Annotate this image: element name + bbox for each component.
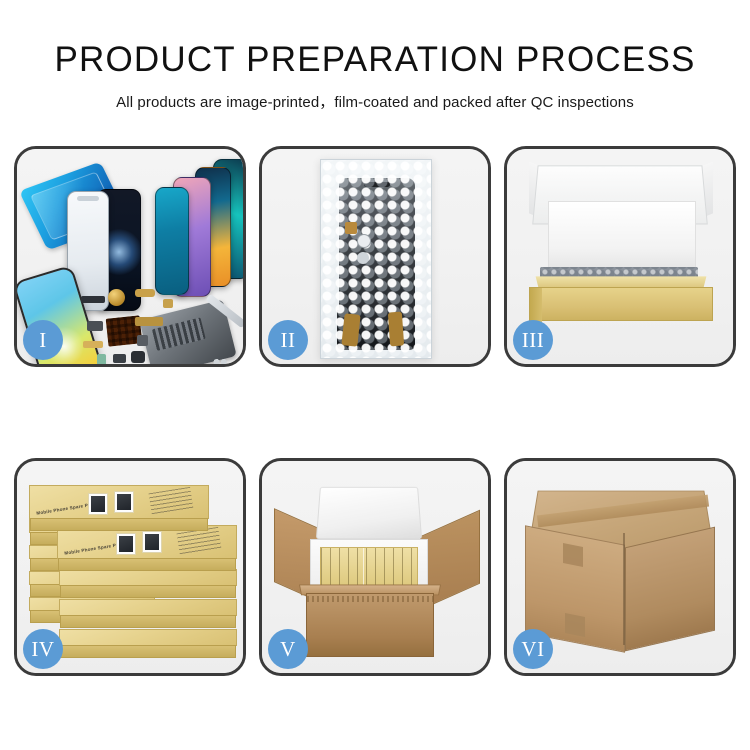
product-preparation-process-page: PRODUCT PREPARATION PROCESS All products… [0, 0, 750, 750]
gold-component [108, 289, 125, 306]
box-rim [536, 276, 707, 287]
part-gold-ribbon [135, 317, 163, 326]
flex-tail-left [341, 313, 360, 346]
box-side-face [60, 585, 236, 598]
step-panel-5: V [259, 458, 491, 676]
box-top-face [60, 600, 236, 615]
part-small-block [137, 335, 148, 346]
screws [213, 357, 231, 367]
screen-notch [364, 182, 390, 187]
box-window-2b [142, 531, 162, 553]
sensor-hole [357, 252, 369, 264]
step-panel-3: III [504, 146, 736, 367]
step-panel-6: VI [504, 458, 736, 676]
box-top-face [60, 630, 236, 645]
step-badge-2: II [268, 320, 308, 360]
box-side-face [58, 558, 236, 571]
process-steps-grid: I II [14, 146, 736, 676]
page-header: PRODUCT PREPARATION PROCESS All products… [0, 0, 750, 112]
box-side-face [60, 645, 236, 658]
box-window-1b [114, 491, 134, 513]
stack-box-fr-3 [59, 569, 237, 586]
part-module [87, 321, 103, 331]
page-subtitle: All products are image-printed，film-coat… [0, 91, 750, 112]
carton-right-face [625, 527, 715, 652]
step-badge-1: I [23, 320, 63, 360]
part-ic-chip [113, 354, 126, 363]
yellow-mailer-box-front [529, 287, 713, 321]
box-side-face [30, 518, 208, 531]
part-speaker [131, 351, 145, 363]
part-camera-lens [97, 354, 106, 367]
page-title: PRODUCT PREPARATION PROCESS [0, 40, 750, 80]
part-flex-strip [83, 341, 103, 348]
carton-front-wall [306, 593, 434, 657]
step-panel-2: II [259, 146, 491, 367]
step-panel-4: Mobile Phone Spare Parts Mobile Phone Sp… [14, 458, 246, 676]
part-flex-cable-gold [135, 289, 155, 297]
stack-box-printed-1: Mobile Phone Spare Parts [29, 485, 209, 519]
part-gold-chip [163, 299, 173, 308]
stack-box-fr-5 [59, 629, 237, 646]
step-badge-3: III [513, 320, 553, 360]
carton-tape-lower [565, 613, 585, 637]
carton-tape-upper [563, 543, 583, 567]
box-side-face [60, 615, 236, 628]
camera-hole [357, 234, 371, 248]
flex-tail-right [388, 312, 404, 347]
box-window-2a [116, 533, 136, 555]
foam-lid [316, 487, 422, 539]
stack-box-fr-4 [59, 599, 237, 616]
white-foam-sheet [548, 201, 696, 269]
step-panel-1: I [14, 146, 246, 367]
step-badge-4: IV [23, 629, 63, 669]
box-top-face [60, 570, 236, 585]
box-window-1a [88, 493, 108, 515]
bubble-wrap-bag [320, 159, 432, 359]
carton-corner-seam [623, 533, 625, 645]
gold-boxes-inside [320, 547, 418, 589]
flex-tab-top [345, 222, 357, 234]
phone-blue-small [155, 187, 189, 295]
step-badge-6: VI [513, 629, 553, 669]
part-connector [81, 296, 105, 303]
step-badge-5: V [268, 629, 308, 669]
